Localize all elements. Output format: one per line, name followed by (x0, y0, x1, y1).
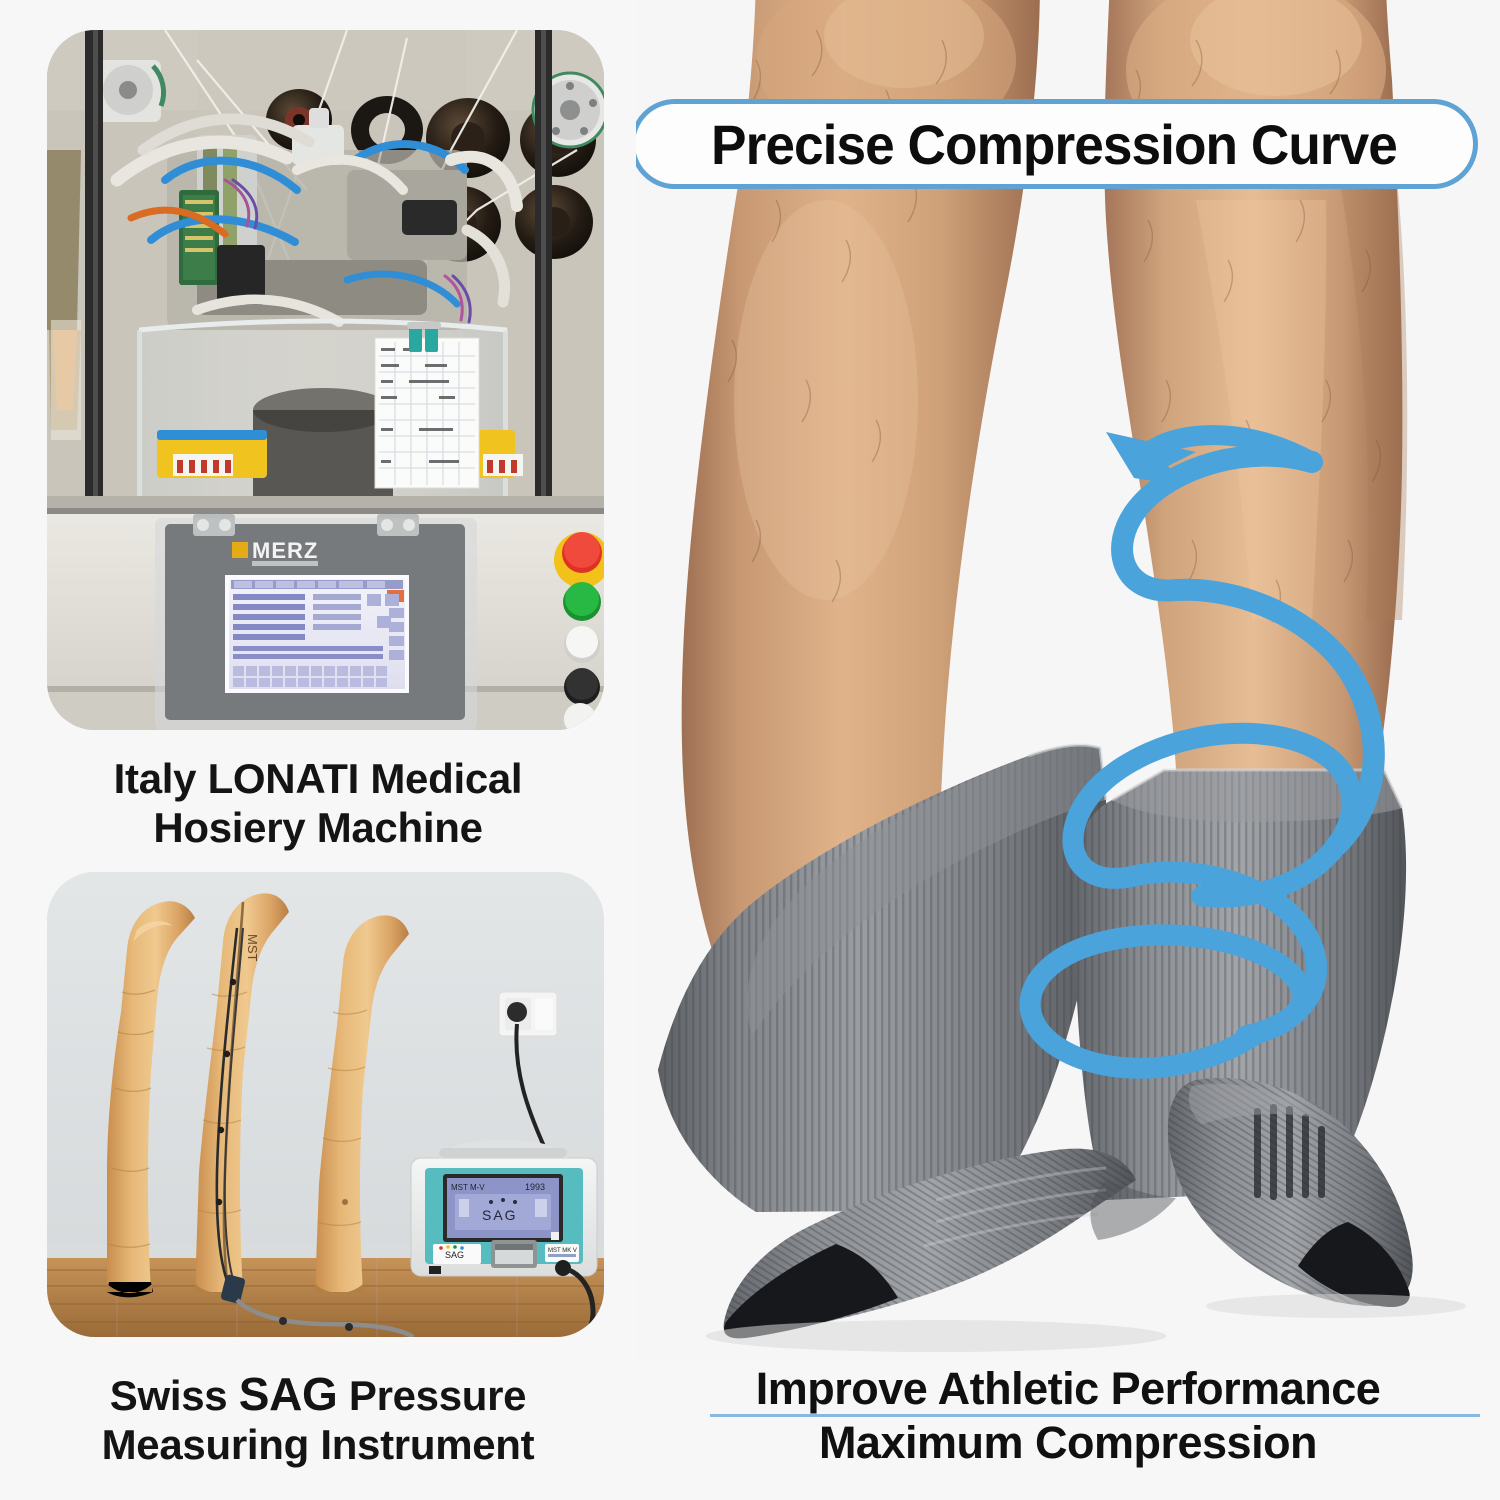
caption-machine: Italy LONATI Medical Hosiery Machine (0, 755, 636, 852)
caption-performance-line2: Maximum Compression (636, 1416, 1500, 1470)
page-title: Precise Compression Curve (711, 112, 1397, 177)
caption-sag-strong: SAG (239, 1368, 338, 1420)
handwritten-chart-card (375, 322, 479, 488)
lcd-sag-text: SAG (482, 1207, 518, 1223)
swiss-sag-pressure-measuring-instrument-photo: MST (47, 872, 604, 1337)
compression-socks-legs-photo (636, 0, 1500, 1360)
sag-illustration: MST (47, 872, 604, 1337)
leg-form-engraving: MST (245, 934, 260, 962)
infographic-root: MERZ (0, 0, 1500, 1500)
legs-illustration (636, 0, 1500, 1360)
caption-machine-line1: Italy LONATI Medical (0, 755, 636, 804)
caption-divider (710, 1414, 1480, 1417)
caption-sag-pre: Swiss (110, 1372, 239, 1419)
caption-sag: Swiss SAG Pressure Measuring Instrument (0, 1368, 636, 1470)
caption-sag-post: Pressure (337, 1372, 526, 1419)
caption-machine-line2: Hosiery Machine (0, 804, 636, 853)
caption-sag-line1: Swiss SAG Pressure (0, 1368, 636, 1421)
sag-badge-text: SAG (445, 1250, 464, 1260)
merz-control-panel: MERZ (155, 514, 477, 730)
small-pulley (95, 60, 164, 122)
left-column: MERZ (0, 0, 636, 1500)
machine-illustration: MERZ (47, 30, 604, 730)
lcd-top-right-text: 1993 (525, 1182, 545, 1192)
caption-performance-line1: Improve Athletic Performance (636, 1362, 1500, 1416)
lcd-top-left-text: MST M-V (451, 1183, 485, 1192)
yarn-swatch-bag (47, 150, 81, 440)
title-pill: Precise Compression Curve (636, 99, 1478, 189)
caption-sag-line2: Measuring Instrument (0, 1421, 636, 1470)
device-model-text: MST MK V (548, 1248, 577, 1254)
right-column: Precise Compression Curve (636, 0, 1500, 1500)
italy-lonati-medical-hosiery-machine-photo: MERZ (47, 30, 604, 730)
